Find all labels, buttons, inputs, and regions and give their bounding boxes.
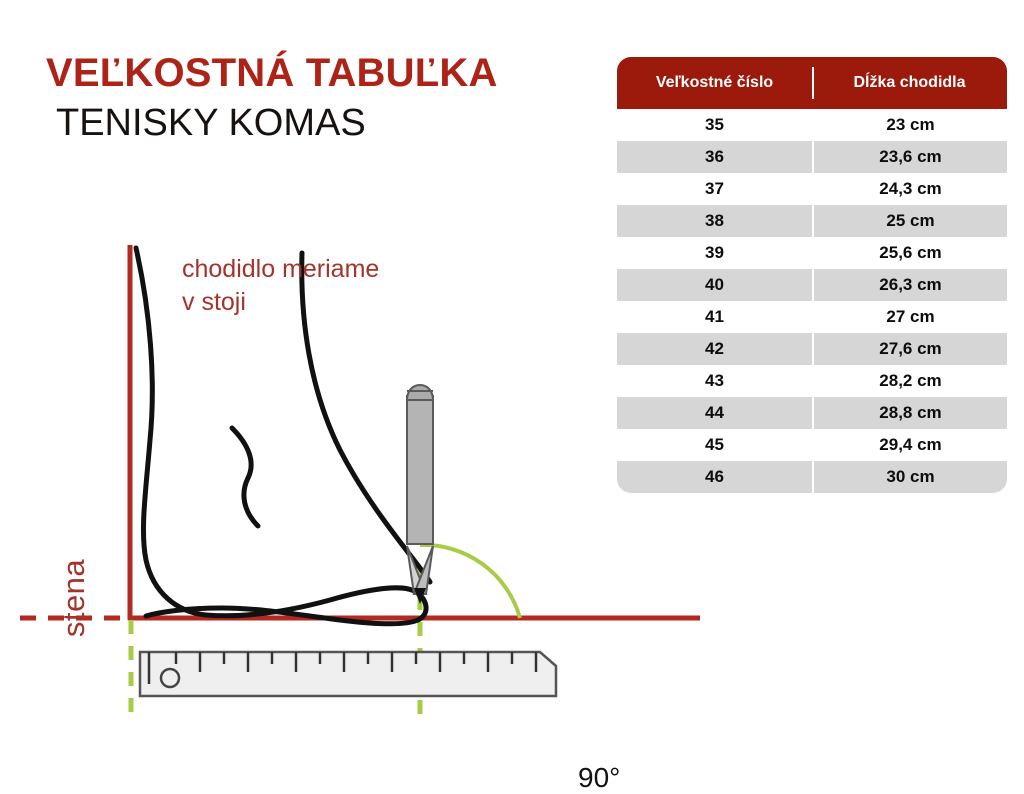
table-header: Veľkostné číslo Dĺžka chodidla	[617, 57, 1007, 109]
ruler-icon	[140, 652, 556, 696]
cell-length: 25,6 cm	[812, 237, 1007, 269]
cell-length: 27 cm	[812, 301, 1007, 333]
column-header-size: Veľkostné číslo	[617, 57, 812, 109]
title-block: VEĽKOSTNÁ TABUĽKA TENISKY KOMAS	[46, 52, 586, 146]
angle-label: 90°	[578, 762, 620, 794]
table-row: 3623,6 cm	[617, 141, 1007, 173]
wall-label: stena	[56, 518, 92, 678]
column-header-length: Dĺžka chodidla	[812, 57, 1007, 109]
page-title: VEĽKOSTNÁ TABUĽKA	[46, 52, 586, 95]
cell-length: 23,6 cm	[812, 141, 1007, 173]
cell-length: 28,8 cm	[812, 397, 1007, 429]
measurement-diagram: stena chodidlo meriame v stoji 90°	[0, 200, 720, 760]
cell-length: 26,3 cm	[812, 269, 1007, 301]
cell-length: 25 cm	[812, 205, 1007, 237]
cell-length: 28,2 cm	[812, 365, 1007, 397]
cell-length: 30 cm	[812, 461, 1007, 493]
cell-size: 35	[617, 109, 812, 141]
cell-length: 24,3 cm	[812, 173, 1007, 205]
table-row: 3523 cm	[617, 109, 1007, 141]
cell-size: 36	[617, 141, 812, 173]
right-angle-arc-icon	[420, 545, 520, 618]
cell-length: 27,6 cm	[812, 333, 1007, 365]
instruction-label: chodidlo meriame v stoji	[182, 253, 379, 319]
table-header-row: Veľkostné číslo Dĺžka chodidla	[617, 57, 1007, 109]
cell-length: 29,4 cm	[812, 429, 1007, 461]
cell-length: 23 cm	[812, 109, 1007, 141]
page-subtitle: TENISKY KOMAS	[56, 101, 586, 146]
